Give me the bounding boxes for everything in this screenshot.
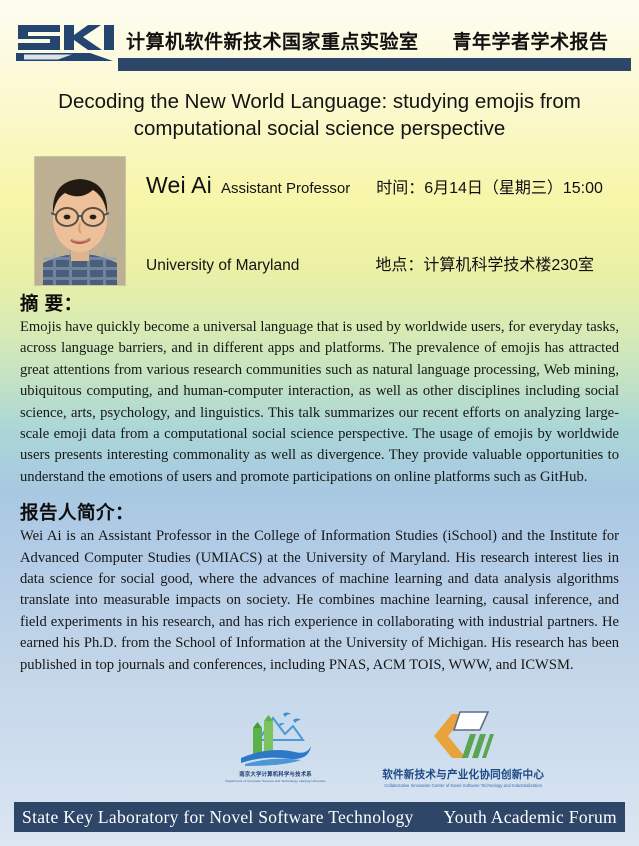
footer-lab-name: State Key Laboratory for Novel Software … — [22, 807, 414, 828]
speaker-name: Wei Ai — [146, 172, 212, 199]
nju-cs-logo: 南京大学计算机科学与技术系 Department of Computer Sci… — [225, 706, 326, 783]
talk-location: 地点：计算机科学技术楼230室 — [375, 251, 594, 275]
bio-text: Wei Ai is an Assistant Professor in the … — [20, 526, 619, 676]
speaker-affiliation: University of Maryland — [146, 257, 299, 275]
footer-forum-name: Youth Academic Forum — [444, 807, 617, 828]
nju-cs-emblem-icon — [235, 706, 317, 768]
skl-logo-icon — [14, 17, 114, 63]
footer-bar: State Key Laboratory for Novel Software … — [14, 802, 625, 832]
ccinst-logo: 软件新技术与产业化协同创新中心 Collaborative Innovation… — [382, 706, 544, 788]
speaker-photo — [34, 156, 126, 286]
ccinst-emblem-icon — [430, 706, 496, 764]
speaker-block: Wei Ai Assistant Professor 时间：6月14日（星期三）… — [0, 156, 639, 284]
nju-cs-caption-cn: 南京大学计算机科学与技术系 — [239, 770, 312, 778]
talk-time: 时间：6月14日（星期三）15:00 — [376, 174, 603, 198]
speaker-role: Assistant Professor — [221, 180, 350, 197]
poster-header: 计算机软件新技术国家重点实验室 青年学者学术报告 — [0, 0, 639, 76]
ccinst-caption-cn: 软件新技术与产业化协同创新中心 — [382, 767, 544, 782]
abstract-section: 摘 要： Emojis have quickly become a univer… — [20, 290, 619, 488]
lab-name-cn: 计算机软件新技术国家重点实验室 — [126, 27, 419, 54]
ccinst-caption-en: Collaborative Innovation Center of Novel… — [384, 783, 542, 788]
abstract-text: Emojis have quickly become a universal l… — [20, 317, 619, 488]
title-block: Decoding the New World Language: studyin… — [26, 88, 613, 142]
bio-section: 报告人简介： Wei Ai is an Assistant Professor … — [20, 499, 619, 676]
talk-title: Decoding the New World Language: studyin… — [26, 88, 613, 142]
header-accent-bar — [118, 58, 631, 71]
series-name-cn: 青年学者学术报告 — [453, 27, 609, 54]
abstract-heading: 摘 要： — [20, 290, 619, 316]
seminar-poster: 计算机软件新技术国家重点实验室 青年学者学术报告 Decoding the Ne… — [0, 0, 639, 846]
bio-heading: 报告人简介： — [20, 499, 619, 525]
nju-cs-caption-en: Department of Computer Science and Techn… — [225, 779, 325, 783]
footer-logos: 南京大学计算机科学与技术系 Department of Computer Sci… — [0, 706, 639, 802]
